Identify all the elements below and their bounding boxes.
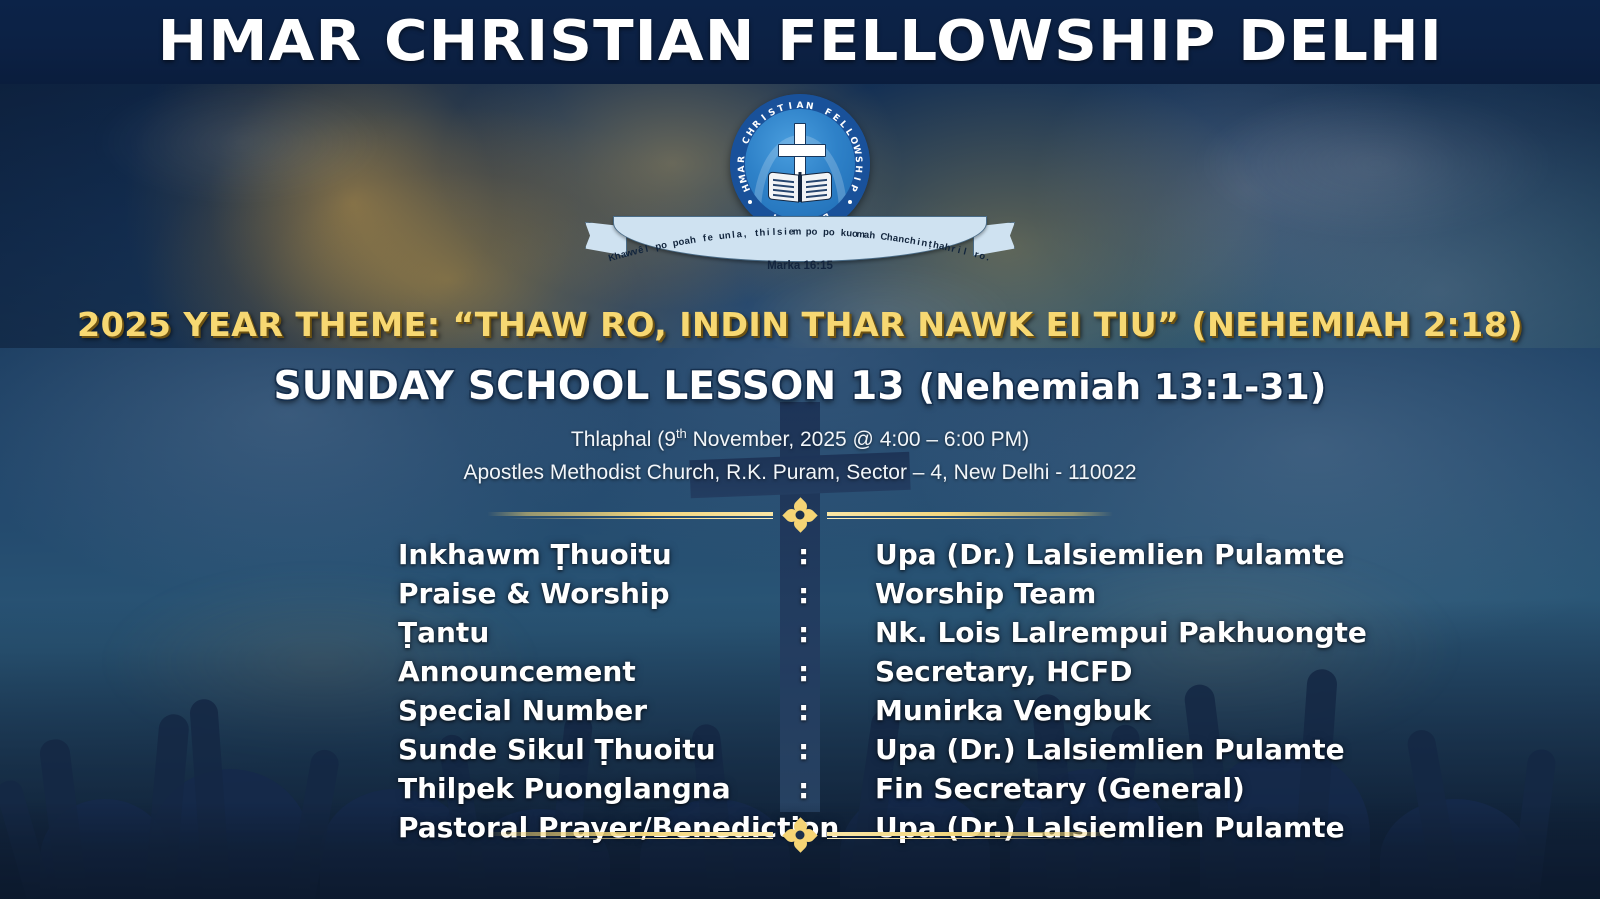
event-datetime: Thlaphal (9th November, 2025 @ 4:00 – 6:… [0, 426, 1600, 452]
divider-hairline-right [827, 838, 1093, 839]
program-item-value: Fin Secretary (General) [875, 772, 1245, 805]
program-item-label: Inkhawm Ṭhuoitu [398, 538, 798, 571]
logo-inner-disc [745, 109, 855, 219]
program-item-value: Munirka Vengbuk [875, 694, 1151, 727]
program-row: Thilpek Puonglangna:Fin Secretary (Gener… [398, 772, 1398, 811]
organization-title: HMAR CHRISTIAN FELLOWSHIP DELHI [157, 14, 1442, 70]
ribbon-verse-char: n [724, 230, 731, 242]
logo-dot-right [848, 200, 852, 204]
fellowship-logo: HMAR CHRISTIAN FELLOWSHIPDELHI [650, 94, 950, 294]
ribbon-verse-char: h [909, 235, 917, 247]
ribbon-verse-char: r [950, 244, 956, 256]
program-section: SUNDAY SCHOOL LESSON 13 (Nehemiah 13:1-3… [0, 348, 1600, 899]
program-item-label: Ṭantu [398, 616, 798, 649]
logo-dot-left [748, 200, 752, 204]
ribbon-verse-char [968, 248, 973, 259]
ribbon-verse-char: i [767, 227, 770, 238]
logo-ribbon: Khawvêl po poah fe unla, thilsiem po po … [585, 208, 1015, 280]
program-row: Ṭantu:Nk. Lois Lalrempui Pakhuongte [398, 616, 1398, 655]
ribbon-verse-char: o [660, 240, 668, 252]
program-item-value: Upa (Dr.) Lalsiemlien Pulamte [875, 733, 1345, 766]
program-separator: : [798, 577, 875, 610]
event-date-suffix: November, 2025 @ 4:00 – 6:00 PM) [687, 428, 1029, 451]
year-theme: 2025 YEAR THEME: “THAW RO, INDIN THAR NA… [0, 305, 1600, 344]
ribbon-verse-char: e [707, 232, 714, 244]
divider-hairline-left [507, 838, 773, 839]
ribbon-verse-char: l [772, 227, 775, 238]
program-row: Announcement:Secretary, HCFD [398, 655, 1398, 694]
ribbon-verse-char: l [962, 246, 967, 257]
program-item-label: Praise & Worship [398, 577, 798, 610]
event-date-prefix: Thlaphal (9 [571, 428, 676, 451]
program-separator: : [798, 772, 875, 805]
quatrefoil-ornament-icon [785, 500, 815, 530]
hero-banner: HMAR CHRISTIAN FELLOWSHIPDELHI [0, 84, 1600, 348]
poster-root: HMAR CHRISTIAN FELLOWSHIP DELHI HMAR CHR… [0, 0, 1600, 899]
ribbon-verse-char: h [759, 227, 765, 238]
program-separator: : [798, 538, 875, 571]
program-row: Sunde Sikul Ṭhuoitu:Upa (Dr.) Lalsiemlie… [398, 733, 1398, 772]
divider-hairline-left [507, 518, 773, 519]
ribbon-verse-char: ê [637, 245, 645, 257]
divider-top [487, 500, 1113, 528]
ribbon-verse-char: h [689, 235, 696, 247]
divider-rule-left [487, 832, 773, 836]
program-item-value: Worship Team [875, 577, 1096, 610]
ribbon-verse-text: Khawvêl po poah fe unla, thilsiem po po … [585, 208, 1015, 264]
ribbon-verse-char: i [784, 227, 787, 238]
ribbon-verse-char: t [755, 228, 759, 239]
ribbon-verse-char [749, 228, 752, 239]
program-item-label: Thilpek Puonglangna [398, 772, 798, 805]
quatrefoil-ornament-icon [785, 820, 815, 850]
program-item-label: Sunde Sikul Ṭhuoitu [398, 733, 798, 766]
program-item-value: Nk. Lois Lalrempui Pakhuongte [875, 616, 1367, 649]
program-table: Inkhawm Ṭhuoitu:Upa (Dr.) Lalsiemlien Pu… [398, 538, 1398, 850]
program-item-label: Announcement [398, 655, 798, 688]
ribbon-verse-char [802, 227, 805, 238]
ribbon-verse-char: s [777, 227, 783, 238]
ribbon-verse-char: f [702, 233, 707, 244]
lesson-title: SUNDAY SCHOOL LESSON 13 (Nehemiah 13:1-3… [0, 364, 1600, 409]
ribbon-verse-char [819, 227, 822, 238]
ribbon-verse-char: h [869, 230, 876, 242]
event-venue: Apostles Methodist Church, R.K. Puram, S… [0, 461, 1600, 485]
ribbon-verse-char [714, 232, 718, 243]
event-date-ordinal: th [676, 426, 687, 441]
program-separator: : [798, 655, 875, 688]
program-separator: : [798, 694, 875, 727]
divider-rule-right [827, 832, 1113, 836]
lesson-title-reference: (Nehemiah 13:1-31) [919, 367, 1327, 408]
ribbon-verse-char: m [793, 226, 801, 237]
ribbon-verse-char: , [743, 229, 747, 240]
ribbon-verse-char: o [811, 227, 817, 238]
program-row: Inkhawm Ṭhuoitu:Upa (Dr.) Lalsiemlien Pu… [398, 538, 1398, 577]
ribbon-verse-reference: Marka 16:15 [585, 260, 1015, 272]
program-item-value: Secretary, HCFD [875, 655, 1132, 688]
divider-rule-right [827, 512, 1113, 516]
lesson-title-main: SUNDAY SCHOOL LESSON 13 [273, 364, 904, 409]
ribbon-verse-char: o [829, 227, 835, 238]
divider-rule-left [487, 512, 773, 516]
program-separator: : [798, 733, 875, 766]
ribbon-verse-char [836, 227, 839, 238]
program-item-label: Special Number [398, 694, 798, 727]
ribbon-verse-char [697, 234, 701, 245]
program-row: Praise & Worship:Worship Team [398, 577, 1398, 616]
ribbon-verse-char: l [732, 230, 736, 241]
program-separator: : [798, 616, 875, 649]
ribbon-verse-char: l [644, 244, 649, 255]
divider-bottom [487, 820, 1113, 848]
ribbon-verse-char: a [736, 229, 742, 240]
program-row: Special Number:Munirka Vengbuk [398, 694, 1398, 733]
open-bible-icon [768, 173, 832, 203]
program-content: SUNDAY SCHOOL LESSON 13 (Nehemiah 13:1-3… [0, 348, 1600, 899]
program-item-value: Upa (Dr.) Lalsiemlien Pulamte [875, 538, 1345, 571]
divider-hairline-right [827, 518, 1093, 519]
header-bar: HMAR CHRISTIAN FELLOWSHIP DELHI [0, 0, 1600, 84]
ribbon-verse-char: i [957, 245, 962, 256]
